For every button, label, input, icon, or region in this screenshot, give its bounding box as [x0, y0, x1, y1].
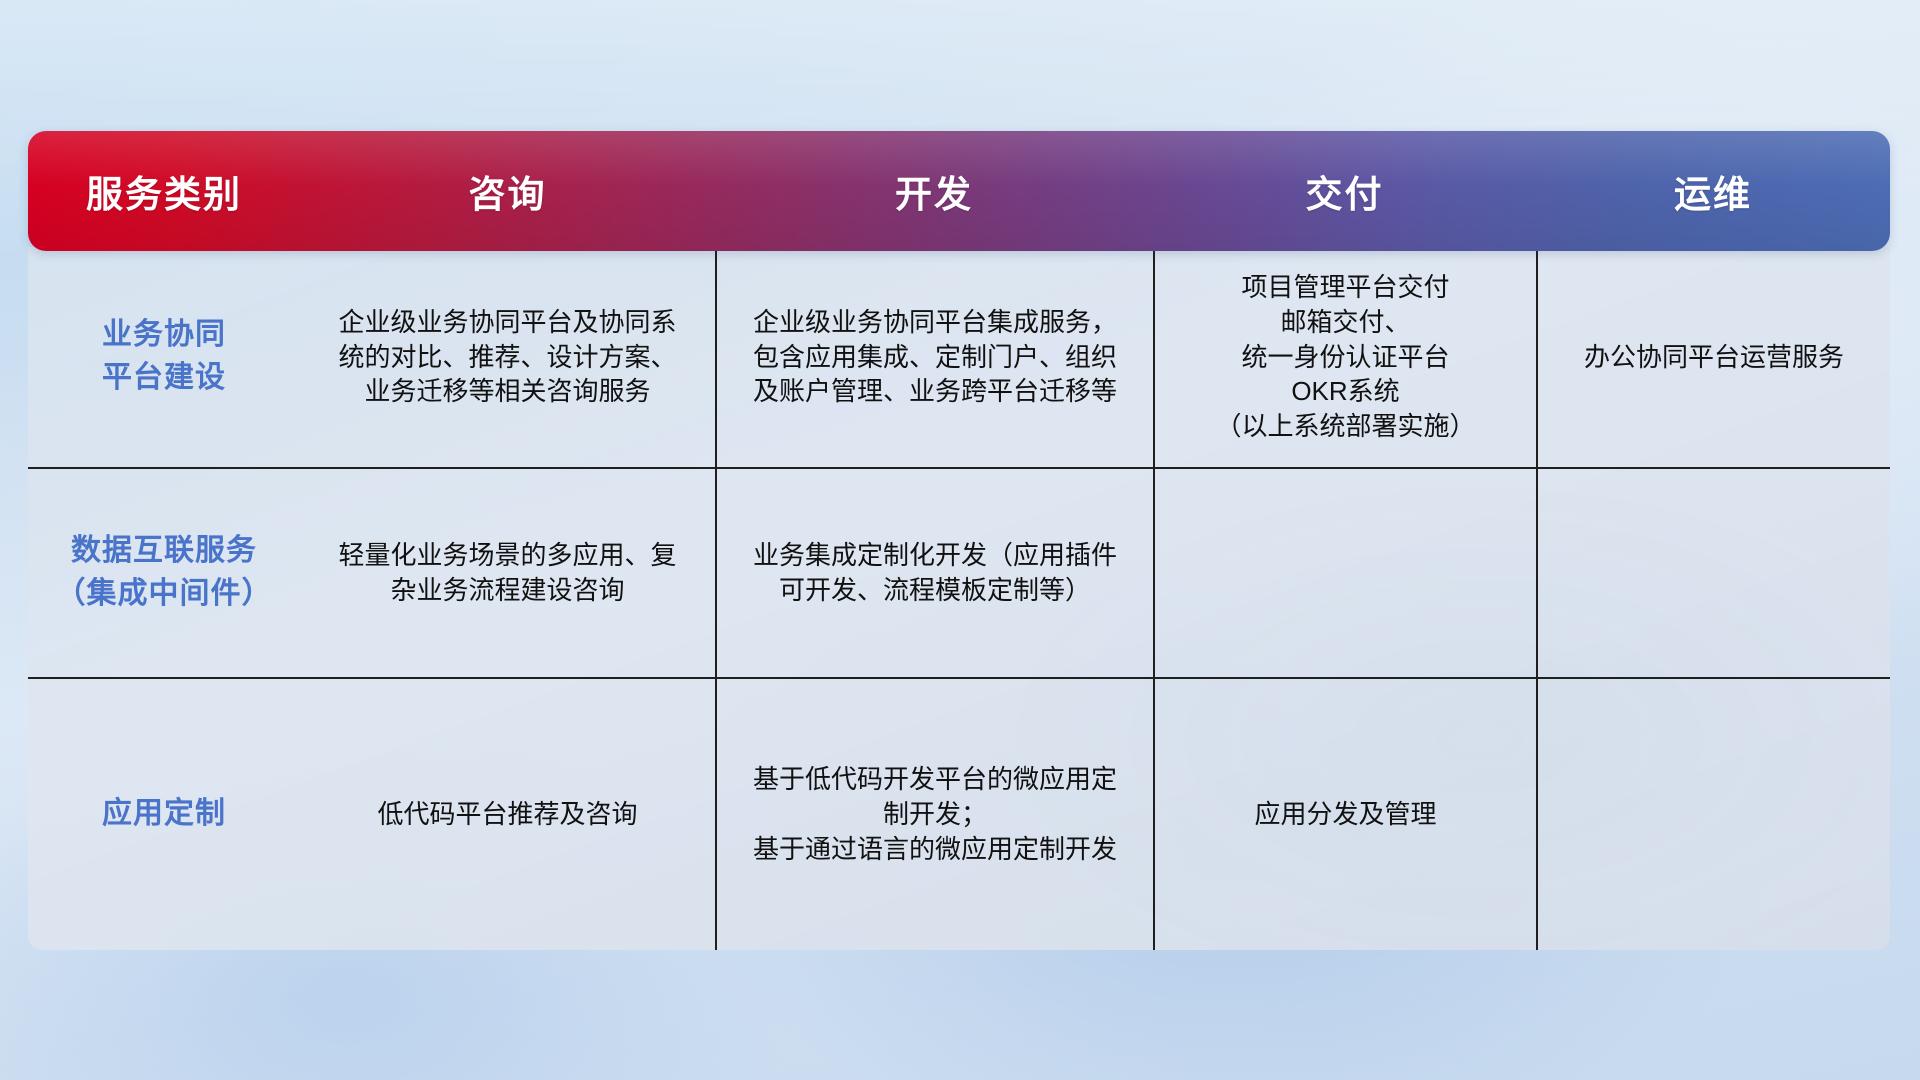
cell-consulting-row1: 企业级业务协同平台及协同系 统的对比、推荐、设计方案、 业务迁移等相关咨询服务: [300, 247, 715, 467]
row-label-app-customization: 应用定制: [28, 679, 300, 950]
column-header-delivery: 交付: [1153, 164, 1536, 218]
cell-consulting-row2: 轻量化业务场景的多应用、复 杂业务流程建设咨询: [300, 469, 715, 677]
table-row: 应用定制 低代码平台推荐及咨询 基于低代码开发平台的微应用定 制开发； 基于通过…: [28, 679, 1890, 950]
cell-development-row3: 基于低代码开发平台的微应用定 制开发； 基于通过语言的微应用定制开发: [715, 679, 1153, 950]
row-label-data-integration: 数据互联服务 （集成中间件）: [28, 469, 300, 677]
cell-operations-row3: [1536, 679, 1890, 950]
cell-delivery-row2: [1153, 469, 1536, 677]
table-body: 业务协同 平台建设 企业级业务协同平台及协同系 统的对比、推荐、设计方案、 业务…: [28, 247, 1890, 950]
service-matrix-table: 服务类别 咨询 开发 交付 运维 业务协同 平台建设 企业级业务协同平台及协同系…: [28, 131, 1890, 950]
cell-development-row1: 企业级业务协同平台集成服务， 包含应用集成、定制门户、组织 及账户管理、业务跨平…: [715, 247, 1153, 467]
column-header-consulting: 咨询: [300, 164, 715, 218]
column-header-development: 开发: [715, 164, 1153, 218]
cell-delivery-row1: 项目管理平台交付 邮箱交付、 统一身份认证平台 OKR系统 （以上系统部署实施）: [1153, 247, 1536, 467]
cell-consulting-row3: 低代码平台推荐及咨询: [300, 679, 715, 950]
table-row: 业务协同 平台建设 企业级业务协同平台及协同系 统的对比、推荐、设计方案、 业务…: [28, 247, 1890, 469]
column-header-operations: 运维: [1536, 164, 1890, 218]
column-header-category: 服务类别: [28, 164, 300, 218]
cell-operations-row2: [1536, 469, 1890, 677]
cell-operations-row1: 办公协同平台运营服务: [1536, 247, 1890, 467]
row-label-business-collaboration: 业务协同 平台建设: [28, 247, 300, 467]
table-header-row: 服务类别 咨询 开发 交付 运维: [28, 131, 1890, 251]
cell-delivery-row3: 应用分发及管理: [1153, 679, 1536, 950]
cell-development-row2: 业务集成定制化开发（应用插件 可开发、流程模板定制等）: [715, 469, 1153, 677]
table-row: 数据互联服务 （集成中间件） 轻量化业务场景的多应用、复 杂业务流程建设咨询 业…: [28, 469, 1890, 679]
